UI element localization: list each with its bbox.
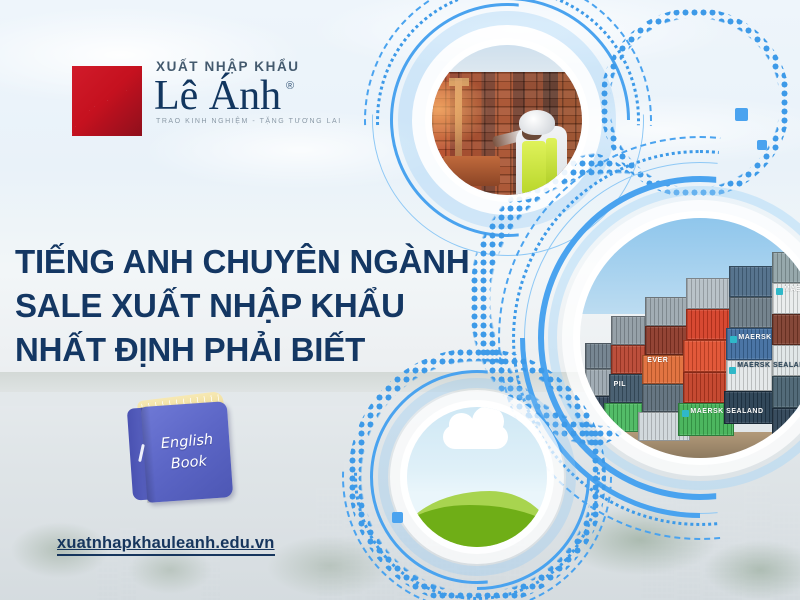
container-label: MAERSK SEALAND [690, 408, 763, 415]
cloud-shape [443, 425, 507, 449]
container-label: PIL [614, 381, 626, 388]
logo-tagline: TRAO KINH NGHIỆM - TẶNG TƯƠNG LAI [154, 118, 324, 125]
container [772, 345, 800, 376]
photo-container-yard: MAERSK MAERSK MAERSK SEALAND MAERSK SEAL… [580, 218, 800, 458]
container [772, 252, 800, 283]
container [729, 266, 777, 297]
container [645, 297, 691, 326]
sun-flare [432, 81, 489, 150]
container [729, 297, 777, 328]
decor-dot-field-top [600, 8, 790, 198]
photo-sky-and-hills [407, 407, 547, 547]
book-title: English Book [148, 429, 227, 477]
container [772, 376, 800, 407]
page-title: TIẾNG ANH CHUYÊN NGÀNH SALE XUẤT NHẬP KH… [15, 240, 485, 372]
maersk-star-icon [729, 367, 736, 374]
logo-wordmark: XUẤT NHẬP KHẨU Lê Ánh® TRAO KINH NGHIỆM … [154, 60, 324, 125]
headline-line-2: SALE XUẤT NHẬP KHẨU [15, 284, 485, 328]
logo-brand-name: Lê Ánh® [154, 76, 281, 116]
hard-hat [519, 110, 555, 136]
safety-vest-strap [546, 138, 557, 189]
container-label: MAERSK SEALAND [737, 362, 800, 369]
english-book-illustration: English Book [118, 392, 248, 510]
le-anh-red-mark-icon [68, 64, 146, 138]
website-url-link[interactable]: xuatnhapkhauleanh.edu.vn [57, 534, 275, 556]
maersk-star-icon [730, 336, 737, 343]
container [772, 408, 800, 439]
terminal-truck [443, 156, 500, 186]
headline-line-3: NHẤT ĐỊNH PHẢI BIẾT [15, 328, 485, 372]
registered-trademark-icon: ® [286, 81, 294, 92]
container-label: MAERSK [784, 286, 800, 293]
brand-logo[interactable]: XUẤT NHẬP KHẨU Lê Ánh® TRAO KINH NGHIỆM … [68, 60, 323, 150]
photo-port-worker [432, 45, 582, 195]
logo-top-line: XUẤT NHẬP KHẨU [154, 60, 324, 74]
safety-vest [522, 141, 546, 195]
container-label: EVER [647, 357, 668, 364]
container [686, 278, 734, 309]
decor-square-dot [735, 108, 748, 121]
poster-canvas: MAERSK MAERSK MAERSK SEALAND MAERSK SEAL… [0, 0, 800, 600]
maersk-star-icon [682, 410, 689, 417]
headline-line-1: TIẾNG ANH CHUYÊN NGÀNH [15, 240, 485, 284]
maersk-star-icon [776, 288, 783, 295]
decor-square-dot [392, 512, 403, 523]
container [772, 314, 800, 345]
decor-square-dot [757, 140, 767, 150]
container-label: MAERSK [738, 334, 771, 341]
logo-brand-text: Lê Ánh [154, 73, 281, 119]
